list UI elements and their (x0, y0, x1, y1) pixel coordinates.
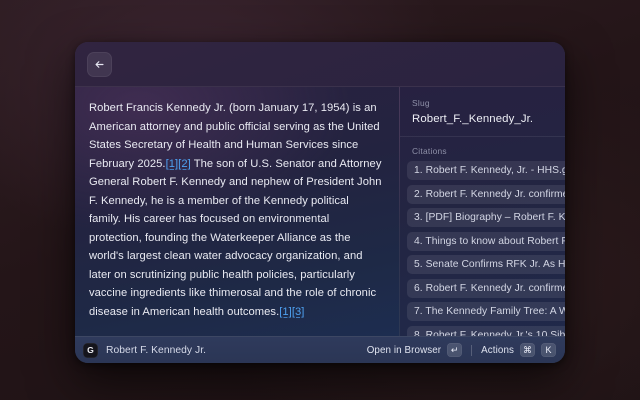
citation-item[interactable]: 3. [PDF] Biography – Robert F. Kennedy (407, 208, 565, 227)
article-text: The son of U.S. Senator and Attorney Gen… (89, 158, 382, 318)
window-body: Robert Francis Kennedy Jr. (born January… (75, 87, 565, 336)
article-pane[interactable]: Robert Francis Kennedy Jr. (born January… (75, 87, 400, 336)
footer-title: Robert F. Kennedy Jr. (106, 345, 206, 356)
citation-link[interactable]: [3] (292, 306, 305, 318)
citation-link[interactable]: [1] (166, 158, 179, 170)
back-button[interactable] (87, 52, 112, 77)
actions-menu-button[interactable]: Actions (481, 345, 514, 356)
arrow-left-icon (94, 59, 105, 70)
window-header (75, 42, 565, 87)
app-badge: G (83, 343, 98, 358)
citations-label: Citations (400, 146, 565, 156)
citation-item[interactable]: 8. Robert F. Kennedy Jr.'s 10 Siblings (407, 326, 565, 337)
slug-value: Robert_F._Kennedy_Jr. (400, 113, 565, 125)
command-key-badge[interactable]: ⌘ (520, 343, 535, 357)
footer-bar: G Robert F. Kennedy Jr. Open in Browser … (75, 336, 565, 363)
slug-label: Slug (400, 98, 565, 108)
command-palette-window: Robert Francis Kennedy Jr. (born January… (75, 42, 565, 363)
citation-item[interactable]: 6. Robert F. Kennedy Jr. confirmed as (407, 279, 565, 298)
footer-actions: Open in Browser ↵ Actions ⌘ K (367, 343, 556, 357)
k-key-badge[interactable]: K (541, 343, 556, 357)
article-paragraph: Kennedy began his professional life as a… (89, 334, 383, 336)
citation-item[interactable]: 7. The Kennedy Family Tree: A Who's (407, 302, 565, 321)
enter-key-badge[interactable]: ↵ (447, 343, 462, 357)
citation-link[interactable]: [2] (178, 158, 191, 170)
footer-separator (471, 345, 472, 356)
citations-list: 1. Robert F. Kennedy, Jr. - HHS.gov2. Ro… (400, 161, 565, 336)
citation-link[interactable]: [1] (279, 306, 292, 318)
citation-item[interactable]: 4. Things to know about Robert F. Ken (407, 232, 565, 251)
article-paragraph: Robert Francis Kennedy Jr. (born January… (89, 99, 383, 321)
metadata-sidebar: Slug Robert_F._Kennedy_Jr. Citations 1. … (400, 87, 565, 336)
citation-item[interactable]: 1. Robert F. Kennedy, Jr. - HHS.gov (407, 161, 565, 180)
sidebar-divider (400, 136, 565, 137)
citation-item[interactable]: 2. Robert F. Kennedy Jr. confirmed as (407, 185, 565, 204)
citation-item[interactable]: 5. Senate Confirms RFK Jr. As HHS Se (407, 255, 565, 274)
open-in-browser-action[interactable]: Open in Browser (367, 345, 441, 356)
